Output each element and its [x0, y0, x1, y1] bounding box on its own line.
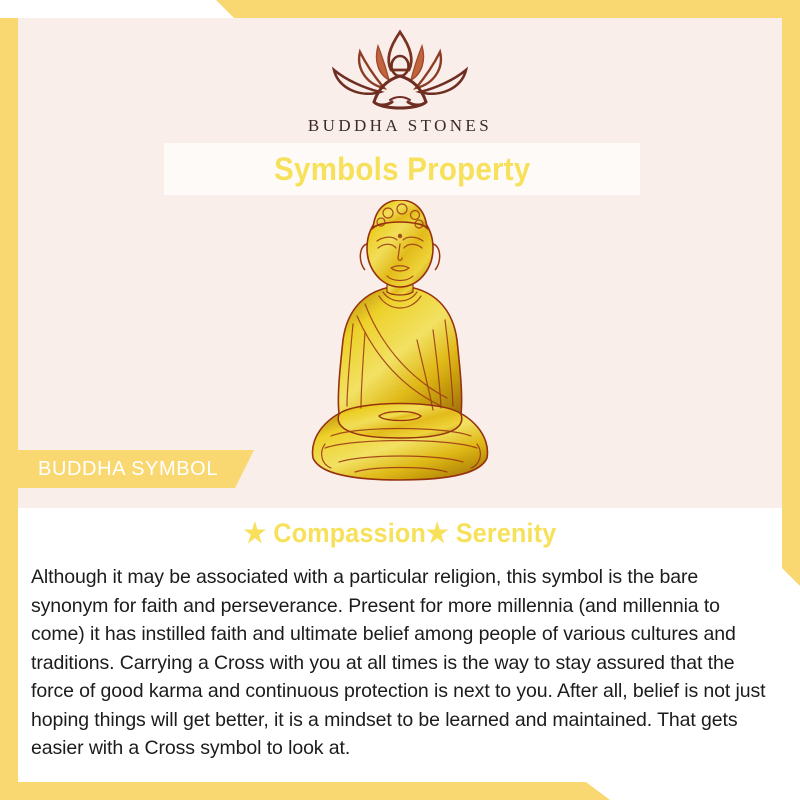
section-ribbon-label: BUDDHA SYMBOL: [18, 458, 218, 481]
section-ribbon: BUDDHA SYMBOL: [18, 450, 254, 488]
decorative-band-bottom: [0, 782, 610, 800]
decorative-band-top: [210, 0, 800, 18]
content-paragraph: Although it may be associated with a par…: [31, 563, 769, 763]
brand-name: BUDDHA STONES: [308, 116, 492, 136]
content-subheading: ★ Compassion★ Serenity: [45, 518, 756, 549]
hero-image: [0, 200, 800, 490]
page-title: Symbols Property: [274, 151, 530, 188]
content-panel: ★ Compassion★ Serenity Although it may b…: [18, 508, 782, 782]
lotus-meditation-figure-icon: [316, 26, 484, 112]
brand-logo: BUDDHA STONES: [0, 26, 800, 136]
title-plaque: Symbols Property: [164, 143, 640, 195]
golden-seated-buddha-statue-icon: [295, 200, 505, 490]
infographic-page: BUDDHA STONES Symbols Property: [0, 0, 800, 800]
